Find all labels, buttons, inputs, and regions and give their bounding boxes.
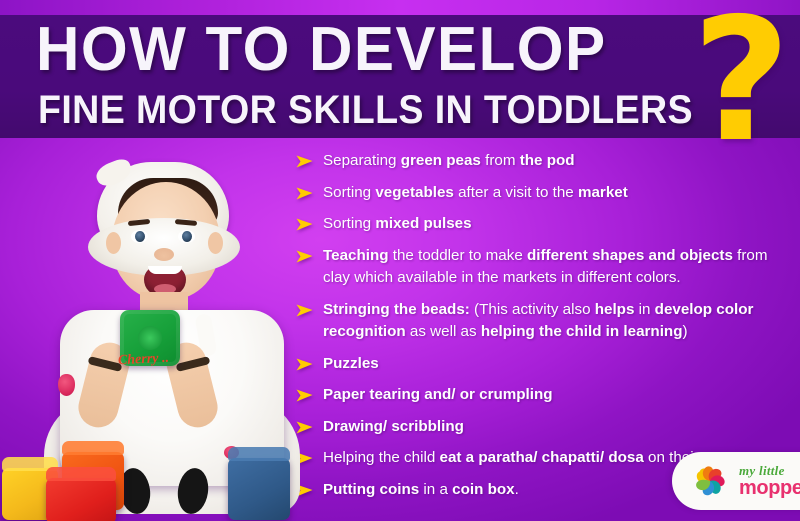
strawberry-applique <box>58 374 75 396</box>
page-subtitle: FINE MOTOR SKILLS IN TODDLERS <box>38 90 693 130</box>
header-band: HOW TO DEVELOP FINE MOTOR SKILLS IN TODD… <box>0 15 800 138</box>
list-item: Teaching the toddler to make different s… <box>296 245 792 290</box>
infographic-poster: HOW TO DEVELOP FINE MOTOR SKILLS IN TODD… <box>0 0 800 521</box>
ear-right <box>208 232 223 254</box>
brand-line-1: my little <box>739 464 800 477</box>
list-item: Paper tearing and/ or crumpling <box>296 384 792 407</box>
list-item: Sorting vegetables after a visit to the … <box>296 182 792 205</box>
list-item: Puzzles <box>296 353 792 376</box>
eye-left <box>131 230 148 243</box>
brand-line-2: moppet <box>739 478 800 498</box>
brand-logo-text: my little moppet <box>739 464 800 498</box>
question-mark-icon: ? <box>692 0 791 166</box>
toy-block-red <box>46 478 116 521</box>
nose <box>154 248 174 261</box>
list-item: Stringing the beads: (This activity also… <box>296 299 792 344</box>
list-item: Sorting mixed pulses <box>296 213 792 236</box>
page-title: HOW TO DEVELOP <box>36 19 607 81</box>
brand-logo[interactable]: my little moppet <box>672 452 800 510</box>
title-wrap: HOW TO DEVELOP FINE MOTOR SKILLS IN TODD… <box>0 15 800 138</box>
ear-left <box>106 232 121 254</box>
toy-block-blue <box>228 458 290 520</box>
pinwheel-hearts-icon <box>686 458 734 504</box>
top-accent-strip <box>0 0 800 15</box>
list-item: Drawing/ scribbling <box>296 416 792 439</box>
dress-cherry-text: Cherry .. <box>118 351 170 370</box>
eye-right <box>178 230 195 243</box>
